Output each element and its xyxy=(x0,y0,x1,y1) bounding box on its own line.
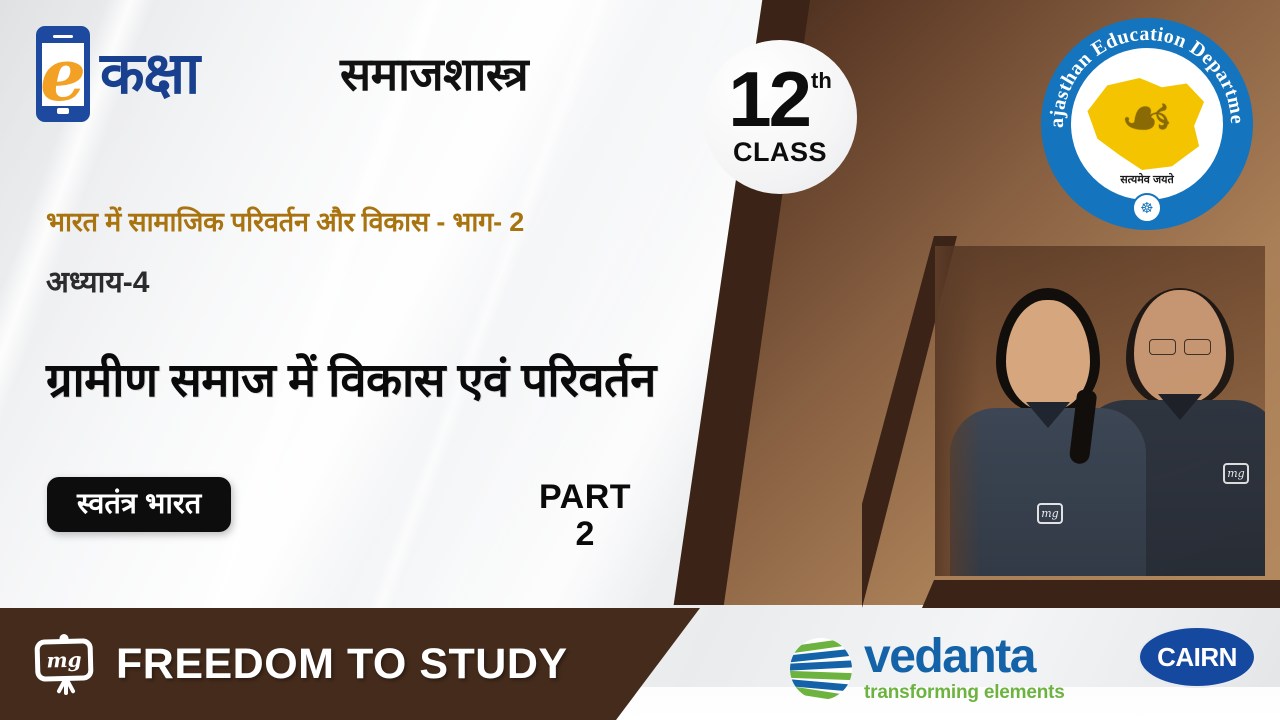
rajasthan-education-department-logo: Rajasthan Education Department ☙ सत्यमेव… xyxy=(1041,18,1253,230)
presenter-female: mg xyxy=(953,286,1143,576)
logo-letter-e: e xyxy=(40,39,86,111)
cairn-name: CAIRN xyxy=(1157,642,1237,673)
national-motto: सत्यमेव जयते xyxy=(1071,172,1223,187)
era-badge: स्वतंत्र भारत xyxy=(47,477,231,532)
class-badge: 12 th CLASS xyxy=(703,40,857,194)
cairn-logo: CAIRN xyxy=(1138,626,1256,688)
vedanta-globe-icon xyxy=(790,638,852,700)
class-number: 12 xyxy=(728,66,809,132)
smartphone-icon: e xyxy=(36,26,90,122)
slide-canvas: e कक्षा समाजशास्त्र 12 th CLASS Rajastha… xyxy=(0,0,1280,720)
ekaksha-logo[interactable]: e कक्षा xyxy=(36,26,199,122)
eyeglasses-icon xyxy=(1149,339,1211,354)
vedanta-name: vedanta xyxy=(864,634,1065,680)
subject-title: समाजशास्त्र xyxy=(340,42,528,104)
female-collar xyxy=(1026,402,1070,428)
phone-speaker-icon xyxy=(53,35,73,38)
part-number: 2 xyxy=(530,516,640,553)
class-number-suffix: th xyxy=(811,72,832,91)
presenter-video-panel: mg mg xyxy=(935,246,1265,576)
chapter-line: अध्याय-4 xyxy=(46,260,149,301)
male-collar xyxy=(1158,394,1202,420)
class-label: CLASS xyxy=(733,137,827,168)
era-badge-label: स्वतंत्र भारत xyxy=(77,488,201,520)
ashoka-chakra-icon: ☸ xyxy=(1132,193,1162,223)
mg-easel-icon: mg xyxy=(32,633,96,695)
female-mg-badge: mg xyxy=(1037,503,1063,524)
book-part-line: भारत में सामाजिक परिवर्तन और विकास - भाग… xyxy=(46,202,524,239)
lesson-main-title: ग्रामीण समाज में विकास एवं परिवर्तन xyxy=(46,346,656,410)
department-logo-inner: ☙ सत्यमेव जयते xyxy=(1071,48,1223,200)
mg-mark: mg xyxy=(46,650,82,671)
footer-bar: mg FREEDOM TO STUDY xyxy=(0,608,700,720)
vedanta-tagline: transforming elements xyxy=(864,682,1065,704)
presenter-edge-fade xyxy=(935,246,981,576)
mg-board-icon: mg xyxy=(34,638,93,682)
part-label: PART xyxy=(530,480,640,516)
phone-home-button-icon xyxy=(57,108,69,114)
ashoka-lion-capital-icon: ☙ xyxy=(1120,88,1174,148)
logo-wordmark: कक्षा xyxy=(100,45,199,103)
part-indicator: PART 2 xyxy=(530,480,640,553)
male-mg-badge: mg xyxy=(1223,463,1249,484)
vedanta-logo: vedanta transforming elements xyxy=(790,634,1065,704)
footer-tagline: FREEDOM TO STUDY xyxy=(116,640,568,689)
